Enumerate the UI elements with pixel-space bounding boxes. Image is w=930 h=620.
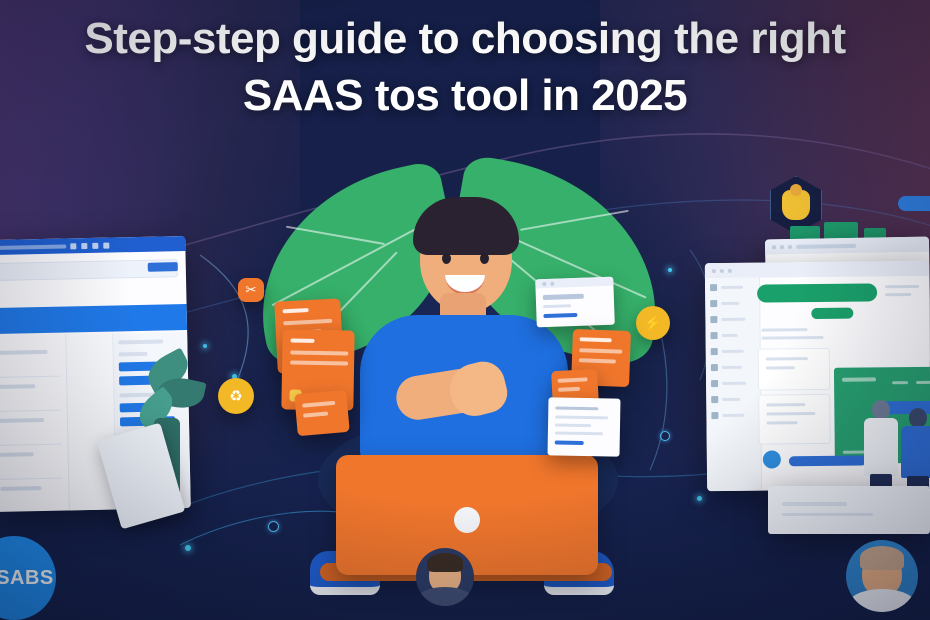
bottom-tray-window[interactable]: [768, 486, 930, 534]
avatar-shoulders: [418, 587, 471, 606]
hex-figure-head: [790, 184, 802, 196]
tag-icon: [711, 364, 718, 371]
calendar-icon: [711, 348, 718, 355]
sidebar-item[interactable]: [711, 380, 755, 387]
mail-icon: [711, 380, 718, 387]
network-node: [185, 545, 191, 551]
network-node: [203, 344, 207, 348]
headline-line-1: Step-step guide to choosing the right: [0, 14, 930, 63]
avatar-bottom-right[interactable]: [846, 540, 918, 612]
chart-icon: [710, 300, 717, 307]
avatar-hair: [860, 546, 905, 569]
user-icon[interactable]: [103, 242, 109, 248]
sidebar-item[interactable]: [710, 284, 754, 291]
sidebar-item[interactable]: [711, 396, 755, 403]
avatar-center[interactable]: [416, 548, 474, 606]
list-card[interactable]: [758, 394, 831, 445]
network-node: [660, 431, 670, 441]
grid-icon: [710, 284, 717, 291]
network-node: [668, 268, 672, 272]
avatar-hair: [427, 553, 463, 572]
saas-badge-label: SABS: [0, 567, 54, 590]
hero-banner: [757, 283, 877, 302]
sidebar: [705, 278, 762, 492]
table-row[interactable]: [0, 343, 60, 378]
table-row[interactable]: [0, 445, 62, 480]
avatar-shoulders: [849, 589, 915, 612]
network-node: [697, 496, 702, 501]
table-row[interactable]: [0, 377, 61, 412]
table-row[interactable]: [0, 411, 61, 446]
recycle-badge-icon[interactable]: ♻: [218, 378, 254, 414]
window-titlebar: [765, 237, 929, 255]
primary-action-button[interactable]: [148, 262, 178, 272]
page-title: Step-step guide to choosing the right SA…: [0, 14, 930, 121]
network-node: [268, 521, 279, 532]
window-titlebar: [0, 236, 185, 255]
cart-icon[interactable]: [81, 243, 87, 249]
window-title-placeholder: [0, 244, 66, 249]
stat-card[interactable]: [758, 348, 830, 391]
bell-icon: [711, 396, 718, 403]
cta-pill-button[interactable]: [811, 308, 853, 319]
table-row[interactable]: [0, 479, 63, 512]
window-titlebar: [705, 261, 929, 278]
pill-button[interactable]: [898, 196, 930, 211]
sidebar-item[interactable]: [711, 412, 755, 419]
eye-right: [480, 253, 489, 264]
users-icon: [710, 316, 717, 323]
bell-icon[interactable]: [70, 243, 76, 249]
submit-button[interactable]: [789, 455, 867, 466]
share-badge-icon[interactable]: ✂: [238, 278, 264, 302]
sidebar-item[interactable]: [710, 300, 754, 307]
eye-left: [442, 253, 451, 264]
sidebar-item[interactable]: [711, 348, 755, 355]
floating-card-white[interactable]: [547, 397, 620, 456]
folder-icon: [711, 332, 718, 339]
sidebar-item[interactable]: [711, 332, 755, 339]
gear-icon: [711, 412, 718, 419]
floating-card-white[interactable]: [535, 277, 615, 328]
table-column-left: [0, 335, 69, 513]
settings-icon[interactable]: [92, 242, 98, 248]
sidebar-item[interactable]: [710, 316, 754, 323]
chat-fab-button[interactable]: [763, 450, 781, 468]
plug-badge-icon[interactable]: ⚡: [636, 306, 670, 340]
section-header-band: [0, 304, 187, 334]
floating-card-orange[interactable]: [294, 390, 349, 436]
poster-canvas: Step-step guide to choosing the right SA…: [0, 0, 930, 620]
laptop[interactable]: [336, 455, 598, 575]
sidebar-item[interactable]: [711, 364, 755, 371]
headline-line-2: SAAS tos tool in 2025: [0, 63, 930, 120]
